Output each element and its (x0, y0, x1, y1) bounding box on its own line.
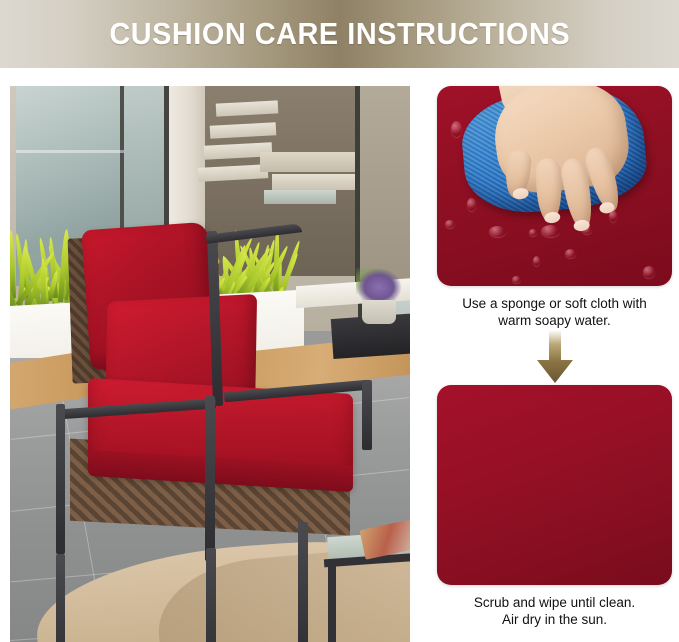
step-two-caption-line2: Air dry in the sun. (439, 611, 670, 628)
chair-leg-front-left (56, 554, 65, 642)
chair-frame-arm-left (56, 404, 65, 554)
water-droplet (541, 225, 560, 237)
chair-frame-arm-post (205, 396, 215, 561)
arrow-down-icon (536, 330, 574, 384)
water-droplet (467, 198, 476, 211)
water-droplet (512, 276, 521, 283)
water-droplet (643, 266, 655, 278)
page-title: CUSHION CARE INSTRUCTIONS (109, 16, 570, 52)
chair-leg-back (206, 548, 216, 642)
step-one-image (437, 86, 672, 286)
fingernail (544, 211, 561, 224)
chair-frame-arm-post-right (362, 380, 372, 450)
water-droplet (565, 249, 576, 258)
water-droplet (533, 256, 540, 266)
header-banner: CUSHION CARE INSTRUCTIONS (0, 0, 679, 68)
water-droplet (451, 121, 462, 137)
chair-frame-backtop (206, 223, 302, 244)
step-two-caption-line1: Scrub and wipe until clean. (439, 594, 670, 611)
arrow-down-container (437, 329, 672, 385)
patio-scene (10, 86, 410, 642)
side-table-leg (328, 562, 336, 642)
water-droplet (529, 229, 537, 236)
water-droplet (445, 220, 455, 228)
step-one-caption-line1: Use a sponge or soft cloth with (439, 295, 670, 312)
hand (488, 86, 634, 199)
step-two-caption: Scrub and wipe until clean. Air dry in t… (437, 585, 672, 628)
step-one-caption: Use a sponge or soft cloth with warm soa… (437, 286, 672, 329)
water-droplet (489, 226, 506, 237)
step-two-image (437, 385, 672, 585)
cushion-care-infographic: CUSHION CARE INSTRUCTIONS (0, 0, 679, 642)
chair-leg-right (298, 522, 308, 642)
patio-chair-photo: EASY TO CLEAN (10, 86, 410, 642)
step-one-caption-line2: warm soapy water. (439, 312, 670, 329)
instruction-steps-column: Use a sponge or soft cloth with warm soa… (437, 86, 672, 628)
